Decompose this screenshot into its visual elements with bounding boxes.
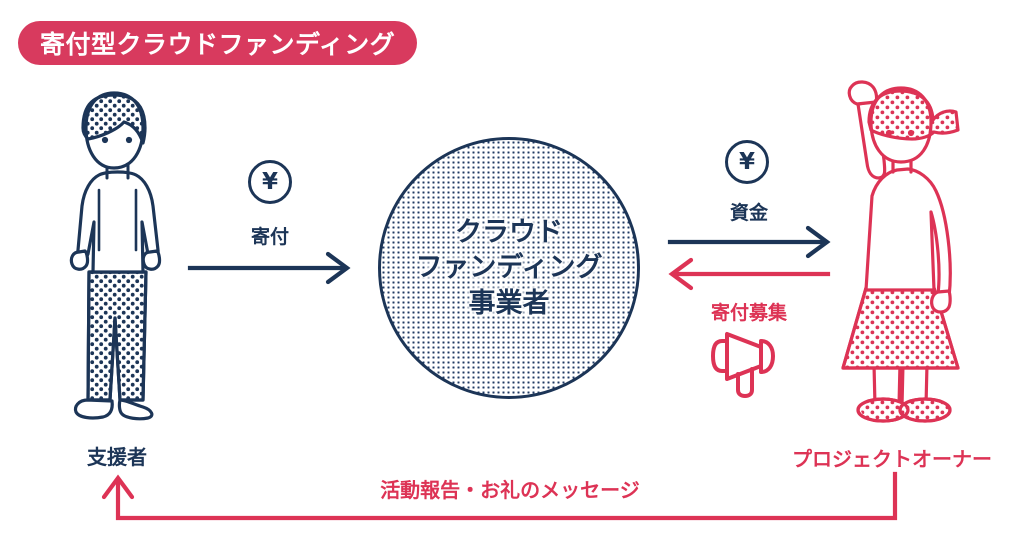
- actor-label-supporter: 支援者: [64, 441, 170, 470]
- diagram-canvas: 寄付型クラウドファンディング: [0, 0, 1024, 560]
- yen-circle-icon-funds: ¥: [725, 140, 769, 184]
- flow-label-activity-report: 活動報告・お礼のメッセージ: [340, 474, 680, 503]
- actor-label-project-owner: プロジェクトオーナー: [776, 443, 1008, 472]
- hub-line-3: 事業者: [415, 286, 602, 322]
- crowdfunding-hub: クラウド ファンディング 事業者: [378, 137, 640, 399]
- diagram-title-badge: 寄付型クラウドファンディング: [18, 21, 417, 65]
- yen-circle-icon-donation: ¥: [248, 160, 292, 204]
- flow-label-funds: 資金: [690, 198, 808, 225]
- funds-arrow: [670, 228, 827, 256]
- megaphone-icon: [713, 334, 773, 396]
- hub-text-block: クラウド ファンディング 事業者: [415, 215, 602, 322]
- solicitation-arrow: [672, 260, 828, 288]
- hub-line-2: ファンディング: [415, 250, 602, 286]
- flow-label-donation: 寄付: [211, 222, 329, 249]
- hub-line-1: クラウド: [415, 215, 602, 251]
- donation-arrow: [190, 254, 347, 282]
- flow-label-solicitation: 寄付募集: [690, 298, 808, 325]
